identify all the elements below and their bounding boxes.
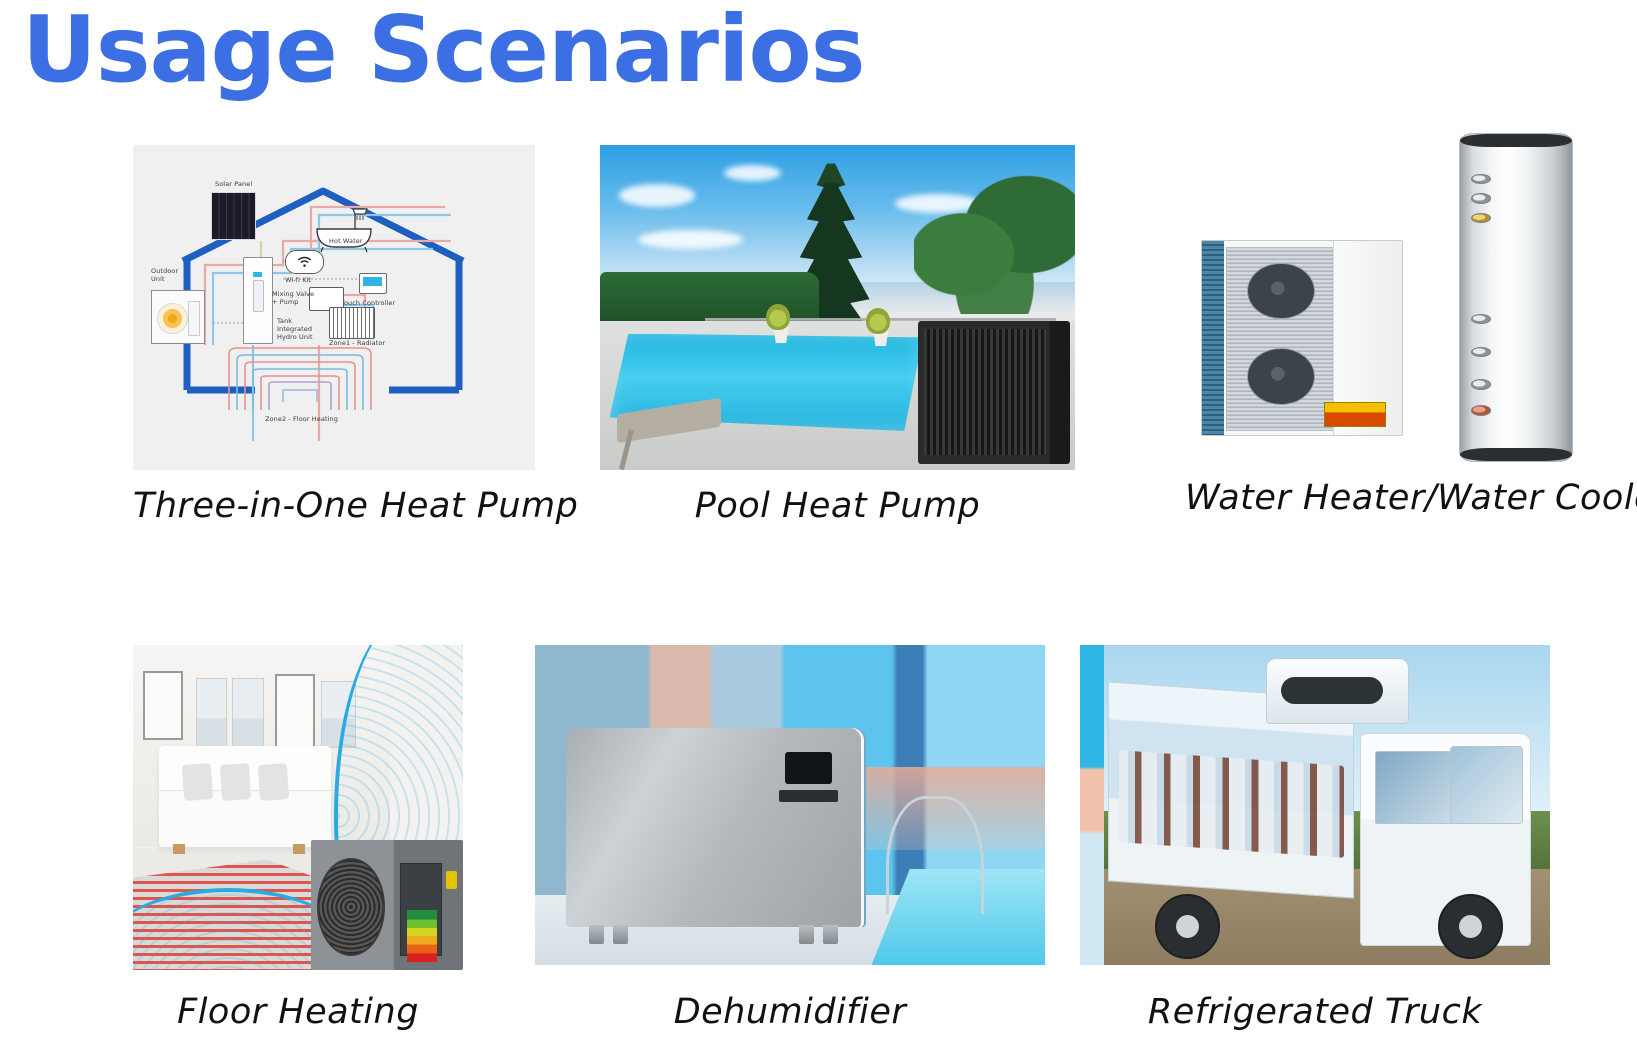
- radiator-icon: [329, 307, 375, 339]
- fan-bottom: [1247, 348, 1315, 405]
- scenario-card-refrigerated-truck[interactable]: Refrigerated Truck: [1080, 645, 1550, 1032]
- heat-pump-outdoor-unit: [1201, 240, 1403, 436]
- refrigerated-truck-photo: [1080, 645, 1550, 965]
- bathtub-hot-water-icon: [313, 207, 375, 253]
- wall-art-1: [196, 678, 228, 752]
- scenario-caption-pool-heat-pump: Pool Heat Pump: [600, 486, 1075, 526]
- solar-panel-icon: [211, 192, 256, 240]
- scenario-caption-three-in-one-heat-pump: Three-in-One Heat Pump: [133, 486, 535, 526]
- trees-right: [914, 165, 1076, 315]
- scenario-image-three-in-one-heat-pump: Solar Panel Hot Water: [133, 145, 535, 470]
- warning-label: [1324, 402, 1386, 427]
- condenser-coil: [1202, 241, 1224, 435]
- scenario-image-pool-heat-pump: [600, 145, 1075, 470]
- water-heater-product-photo: [1185, 130, 1585, 470]
- refrigeration-unit: [1266, 658, 1409, 724]
- wall-mirror: [143, 671, 183, 740]
- fan-top: [1247, 263, 1315, 320]
- hydro-unit-icon: [243, 257, 273, 344]
- scenario-row-1: Solar Panel Hot Water: [0, 130, 1637, 585]
- cab-side-window: [1375, 751, 1455, 825]
- coffee-graphics: [1119, 750, 1344, 857]
- white-sofa: [159, 746, 331, 847]
- scenario-card-three-in-one-heat-pump[interactable]: Solar Panel Hot Water: [133, 145, 535, 526]
- floor-heating-heat-pump: [311, 840, 463, 970]
- scenario-image-floor-heating: [133, 645, 463, 970]
- label-hot-water: Hot Water: [329, 237, 363, 245]
- scenario-card-pool-heat-pump[interactable]: Pool Heat Pump: [600, 145, 1075, 526]
- fan-grille: [1226, 247, 1334, 431]
- scenario-image-dehumidifier: [535, 645, 1045, 965]
- rear-wheel: [1155, 894, 1220, 959]
- dehumidifier-product-photo: [535, 645, 1045, 965]
- scenario-card-water-heater-water-cooler[interactable]: Water Heater/Water Cooler: [1185, 130, 1585, 518]
- dehumidifier-unit: [566, 728, 862, 926]
- scenario-row-2: Floor Heating: [0, 585, 1637, 1045]
- heat-pump-fan: [317, 858, 385, 956]
- scenario-caption-floor-heating: Floor Heating: [133, 992, 463, 1032]
- scenario-caption-water-heater-water-cooler: Water Heater/Water Cooler: [1185, 478, 1585, 518]
- heat-pump-system-diagram: Solar Panel Hot Water: [133, 145, 535, 470]
- scenario-image-water-heater-water-cooler: [1185, 130, 1585, 470]
- label-zone2-floor-heating: Zone2 - Floor Heating: [265, 415, 338, 423]
- lounge-chair: [610, 386, 734, 471]
- left-edge-stripe: [1080, 645, 1104, 965]
- scenario-caption-refrigerated-truck: Refrigerated Truck: [1080, 992, 1550, 1032]
- pool-heat-pump-unit: [918, 321, 1070, 464]
- brand-badge: [779, 790, 838, 802]
- outdoor-unit-icon: [151, 290, 205, 344]
- wall-art-2: [232, 678, 264, 752]
- floor-heating-coil-icon: [225, 340, 375, 412]
- pool-scene-photo: [600, 145, 1075, 470]
- wifi-kit-icon: [285, 250, 324, 274]
- touch-controller-icon: [359, 273, 387, 294]
- scenario-caption-dehumidifier: Dehumidifier: [535, 992, 1045, 1032]
- pool-ladder: [886, 796, 984, 914]
- control-display: [785, 752, 832, 784]
- floor-mirror: [275, 674, 315, 756]
- water-storage-tank: [1459, 133, 1573, 461]
- front-wheel: [1438, 894, 1503, 959]
- label-solar-panel: Solar Panel: [215, 180, 252, 188]
- energy-rating-label: [407, 910, 437, 962]
- scenario-grid: Solar Panel Hot Water: [0, 130, 1637, 1045]
- label-mixing-valve: Mixing Valve + Pump: [272, 290, 314, 306]
- scenario-image-refrigerated-truck: [1080, 645, 1550, 965]
- label-touch-controller: Touch Controller: [341, 299, 395, 307]
- living-room-photo: [133, 645, 463, 970]
- label-hydro-unit: Tank Integrated Hydro Unit: [277, 317, 313, 341]
- page-title: Usage Scenarios: [22, 0, 864, 105]
- cab-windshield: [1450, 746, 1523, 824]
- scenario-card-floor-heating[interactable]: Floor Heating: [133, 645, 463, 1032]
- heat-pump-knob: [446, 871, 457, 889]
- refrigeration-vent: [1281, 677, 1383, 704]
- scenario-card-dehumidifier[interactable]: Dehumidifier: [535, 645, 1045, 1032]
- label-outdoor-unit: Outdoor Unit: [151, 267, 178, 283]
- label-wifi-kit: Wi-fi Kit: [285, 276, 311, 284]
